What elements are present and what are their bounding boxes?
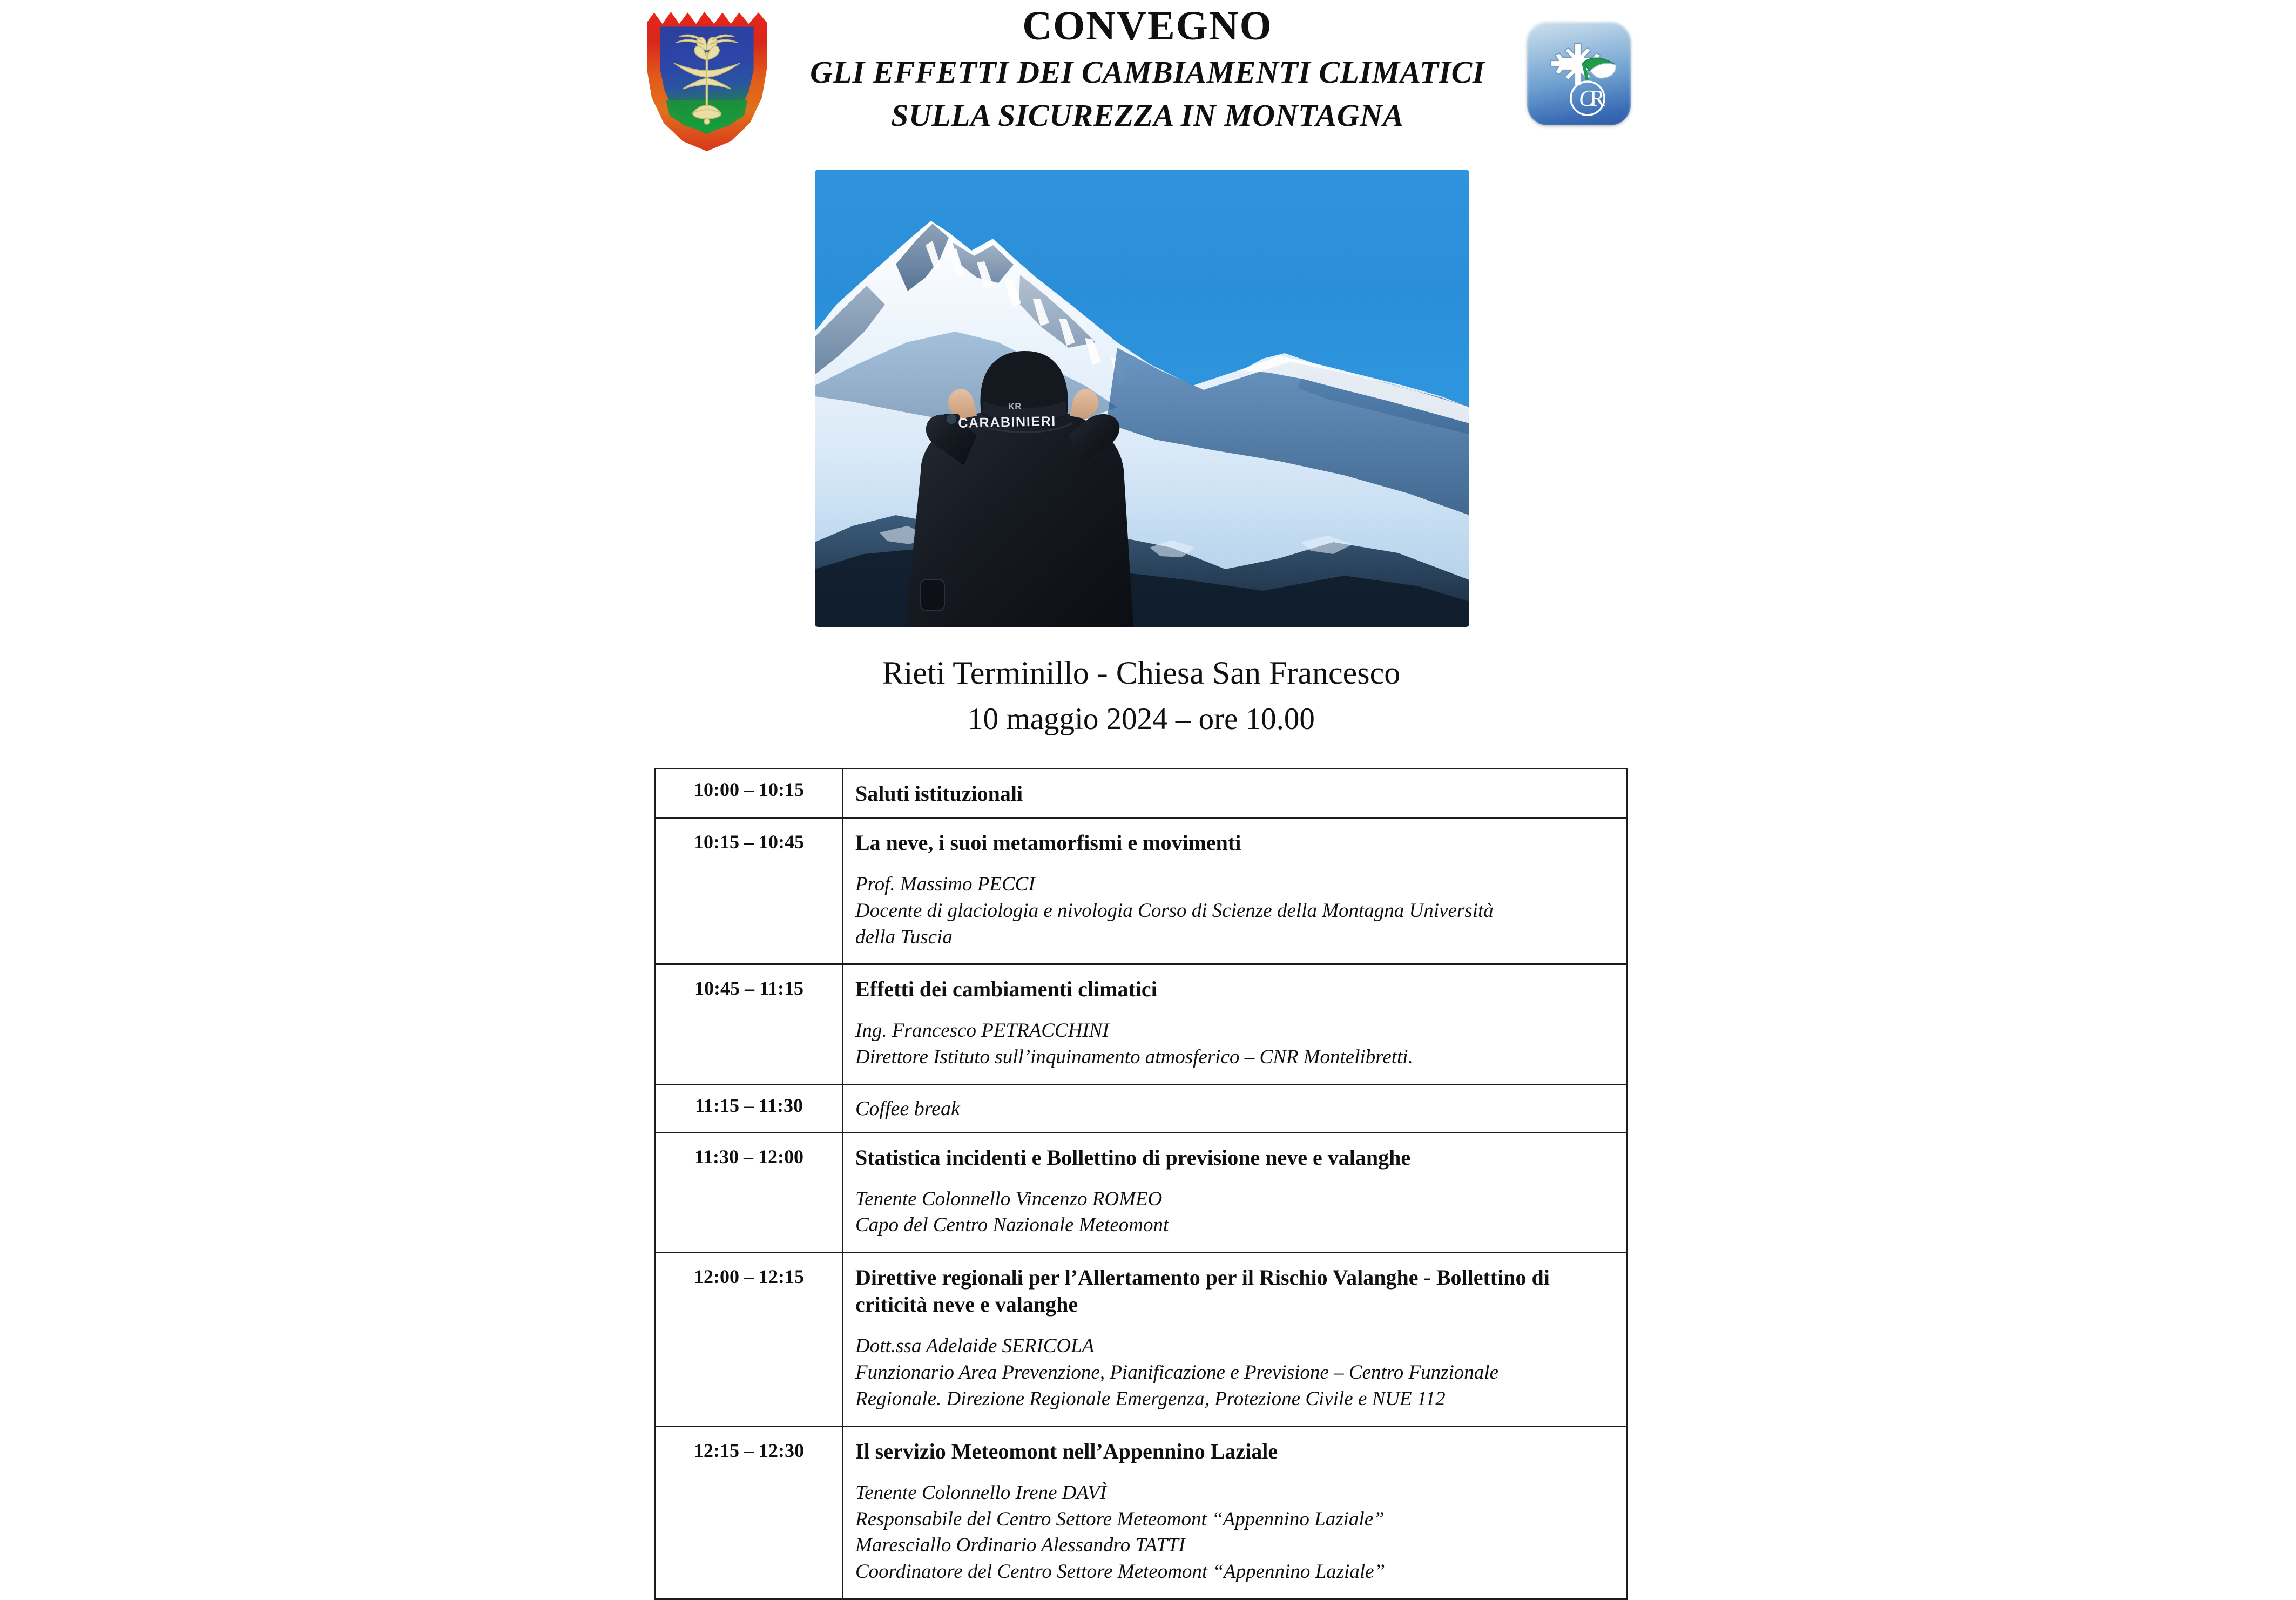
agenda-table: 10:00 – 10:15 Saluti istituzionali 10:15… [654,768,1628,1600]
agenda-time-cell: 10:00 – 10:15 [656,769,843,818]
agenda-topic: Coffee break [855,1096,1617,1122]
agenda-time: 12:00 – 12:15 [656,1253,842,1293]
agenda-detail-cell: Coffee break [843,1085,1628,1133]
table-row: 11:15 – 11:30 Coffee break [656,1085,1628,1133]
caduceus-icon [666,32,747,129]
agenda-speaker-block: Tenente Colonnello Vincenzo ROMEO Capo d… [855,1186,1617,1239]
agenda-topic: La neve, i suoi metamorfismi e movimenti [855,829,1617,856]
agenda-time-cell: 10:45 – 11:15 [656,964,843,1085]
venue-block: Rieti Terminillo - Chiesa San Francesco … [654,653,1628,738]
agenda-time: 10:45 – 11:15 [656,965,842,1005]
agenda-speaker-role: Regionale. Direzione Regionale Emergenza… [855,1386,1617,1413]
agenda-time: 12:15 – 12:30 [656,1427,842,1467]
agenda-time-cell: 12:15 – 12:30 [656,1426,843,1599]
agenda-topic: Statistica incidenti e Bollettino di pre… [855,1144,1617,1171]
table-row: 10:00 – 10:15 Saluti istituzionali [656,769,1628,818]
agenda-speaker-name: Maresciallo Ordinario Alessandro TATTI [855,1533,1617,1559]
agenda-time: 10:15 – 10:45 [656,819,842,859]
agenda-topic: Saluti istituzionali [855,780,1617,807]
agenda-speaker-name: Dott.ssa Adelaide SERICOLA [855,1333,1617,1360]
table-row: 10:15 – 10:45 La neve, i suoi metamorfis… [656,818,1628,964]
poster-header: CONVEGNO GLI EFFETTI DEI CAMBIAMENTI CLI… [0,0,2296,162]
agenda-speaker-name: Prof. Massimo PECCI [855,872,1617,898]
agenda-speaker-role: Direttore Istituto sull’inquinamento atm… [855,1044,1617,1071]
agenda-speaker-role: della Tuscia [855,924,1617,951]
agenda-time-cell: 10:15 – 10:45 [656,818,843,964]
table-row: 10:45 – 11:15 Effetti dei cambiamenti cl… [656,964,1628,1085]
agenda-speaker-role: Docente di glaciologia e nivologia Corso… [855,898,1617,924]
meteomont-logo: C R [1527,22,1631,125]
page-subtitle-line2: SULLA SICUREZZA IN MONTAGNA [778,97,1517,135]
agenda-detail-cell: Statistica incidenti e Bollettino di pre… [843,1132,1628,1253]
svg-text:KR: KR [1008,401,1022,411]
agenda-time-cell: 11:30 – 12:00 [656,1132,843,1253]
carabiniere-silhouette: KR [815,170,1469,627]
conference-photo: KR CARABINIERI [807,162,1477,634]
page-title: CONVEGNO [778,4,1517,48]
agenda-detail-cell: Il servizio Meteomont nell’Appennino Laz… [843,1426,1628,1599]
agenda-speaker-name: Ing. Francesco PETRACCHINI [855,1018,1617,1044]
table-row: 11:30 – 12:00 Statistica incidenti e Bol… [656,1132,1628,1253]
agenda-detail-cell: La neve, i suoi metamorfismi e movimenti… [843,818,1628,964]
agenda-time: 11:15 – 11:30 [656,1085,842,1122]
agenda-topic: Effetti dei cambiamenti climatici [855,976,1617,1003]
title-block: CONVEGNO GLI EFFETTI DEI CAMBIAMENTI CLI… [778,4,1517,135]
photo-canvas: KR CARABINIERI [815,170,1469,627]
venue-place: Rieti Terminillo - Chiesa San Francesco [654,653,1628,692]
table-row: 12:15 – 12:30 Il servizio Meteomont nell… [656,1426,1628,1599]
agenda-time-cell: 12:00 – 12:15 [656,1253,843,1426]
agenda-detail-cell: Saluti istituzionali [843,769,1628,818]
agenda-topic: Il servizio Meteomont nell’Appennino Laz… [855,1438,1617,1465]
carabinieri-forestale-emblem [647,10,767,151]
uniform-label: CARABINIERI [948,414,1066,432]
agenda-time-cell: 11:15 – 11:30 [656,1085,843,1133]
venue-date: 10 maggio 2024 – ore 10.00 [654,701,1628,738]
agenda-time: 11:30 – 12:00 [656,1133,842,1173]
agenda-time: 10:00 – 10:15 [656,769,842,806]
agenda-speaker-block: Ing. Francesco PETRACCHINI Direttore Ist… [855,1018,1617,1071]
agenda-speaker-block: Prof. Massimo PECCI Docente di glaciolog… [855,872,1617,950]
agenda-speaker-role: Capo del Centro Nazionale Meteomont [855,1212,1617,1239]
agenda-speaker-block: Tenente Colonnello Irene DAVÌ Responsabi… [855,1480,1617,1585]
table-row: 12:00 – 12:15 Direttive regionali per l’… [656,1253,1628,1426]
page-subtitle-line1: GLI EFFETTI DEI CAMBIAMENTI CLIMATICI [778,53,1517,92]
agenda-speaker-role: Responsabile del Centro Settore Meteomon… [855,1507,1617,1533]
svg-text:R: R [1590,86,1605,111]
agenda-speaker-name: Tenente Colonnello Irene DAVÌ [855,1480,1617,1507]
agenda-table-body: 10:00 – 10:15 Saluti istituzionali 10:15… [656,769,1628,1599]
agenda-speaker-role: Coordinatore del Centro Settore Meteomon… [855,1559,1617,1585]
agenda-speaker-block: Dott.ssa Adelaide SERICOLA Funzionario A… [855,1333,1617,1412]
agenda-speaker-name: Tenente Colonnello Vincenzo ROMEO [855,1186,1617,1213]
snowflake-flag-icon: C R [1527,22,1631,125]
agenda-detail-cell: Effetti dei cambiamenti climatici Ing. F… [843,964,1628,1085]
agenda-detail-cell: Direttive regionali per l’Allertamento p… [843,1253,1628,1426]
agenda-speaker-role: Funzionario Area Prevenzione, Pianificaz… [855,1360,1617,1386]
agenda-topic: Direttive regionali per l’Allertamento p… [855,1264,1617,1318]
